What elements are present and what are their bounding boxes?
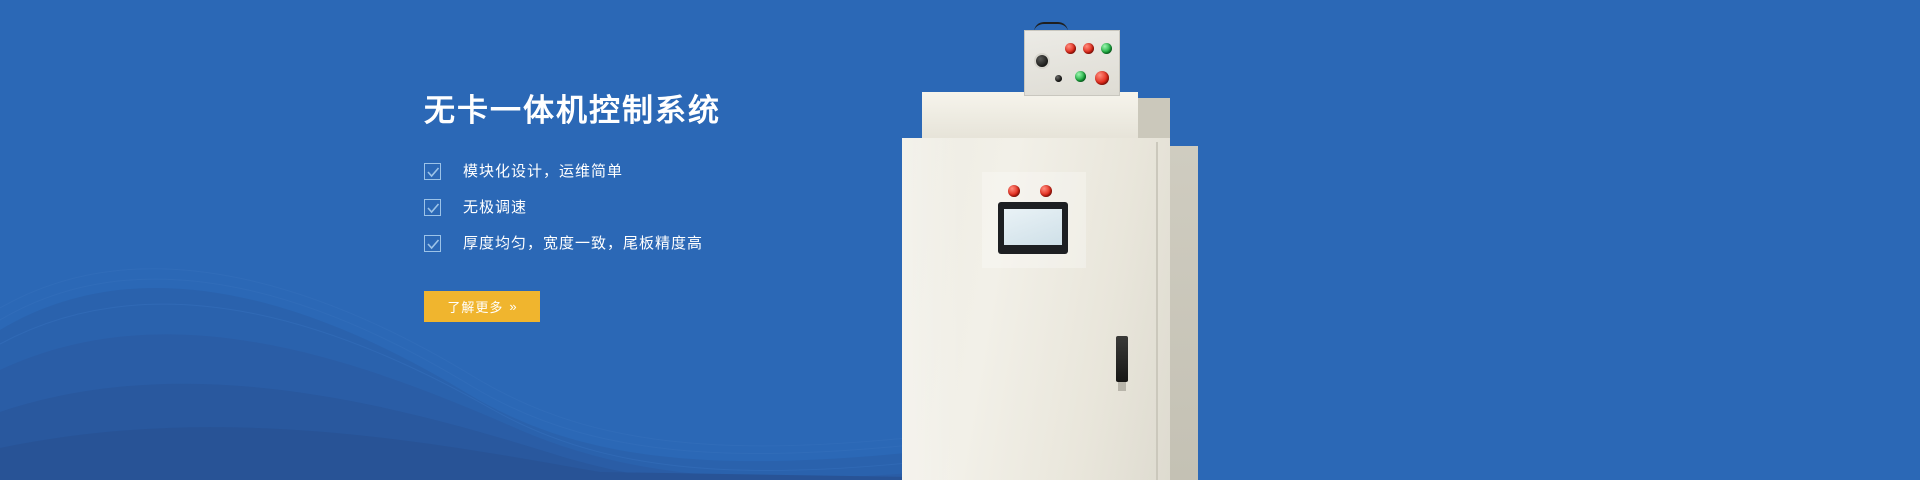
cabinet-top-cap bbox=[922, 92, 1138, 140]
rotary-selector-knob[interactable] bbox=[1034, 53, 1050, 69]
hmi-indicator-lamp-right[interactable] bbox=[1040, 185, 1052, 197]
feature-label: 无极调速 bbox=[463, 200, 527, 215]
checkbox-checked-icon bbox=[424, 163, 441, 180]
checkbox-checked-icon bbox=[424, 199, 441, 216]
hmi-bezel bbox=[998, 202, 1068, 254]
cabinet-door-seam bbox=[1156, 142, 1158, 480]
product-photo bbox=[898, 0, 1208, 480]
learn-more-label: 了解更多 bbox=[447, 297, 503, 316]
cabinet-door-handle[interactable] bbox=[1116, 336, 1128, 382]
learn-more-button[interactable]: 了解更多 » bbox=[424, 291, 540, 322]
indicator-lamp-red-1[interactable] bbox=[1065, 43, 1076, 54]
indicator-lamp-green-2[interactable] bbox=[1075, 71, 1086, 82]
chevron-right-icon: » bbox=[509, 300, 516, 313]
cabinet-door-latch bbox=[1118, 382, 1126, 391]
cabinet-top-side bbox=[1136, 98, 1170, 142]
control-panel-box bbox=[1024, 30, 1120, 96]
panel-screw bbox=[1055, 75, 1062, 82]
touchscreen-display[interactable] bbox=[1004, 209, 1062, 245]
feature-label: 厚度均匀，宽度一致，尾板精度高 bbox=[463, 236, 703, 251]
checkbox-checked-icon bbox=[424, 235, 441, 252]
hmi-indicator-lamp-left[interactable] bbox=[1008, 185, 1020, 197]
indicator-lamp-green-1[interactable] bbox=[1101, 43, 1112, 54]
indicator-lamp-red-2[interactable] bbox=[1083, 43, 1094, 54]
cabinet-highlight bbox=[902, 138, 962, 480]
feature-label: 模块化设计，运维简单 bbox=[463, 164, 623, 179]
hero-banner: 无卡一体机控制系统 模块化设计，运维简单 无极调速 bbox=[0, 0, 1920, 480]
emergency-stop-button[interactable] bbox=[1095, 71, 1109, 85]
